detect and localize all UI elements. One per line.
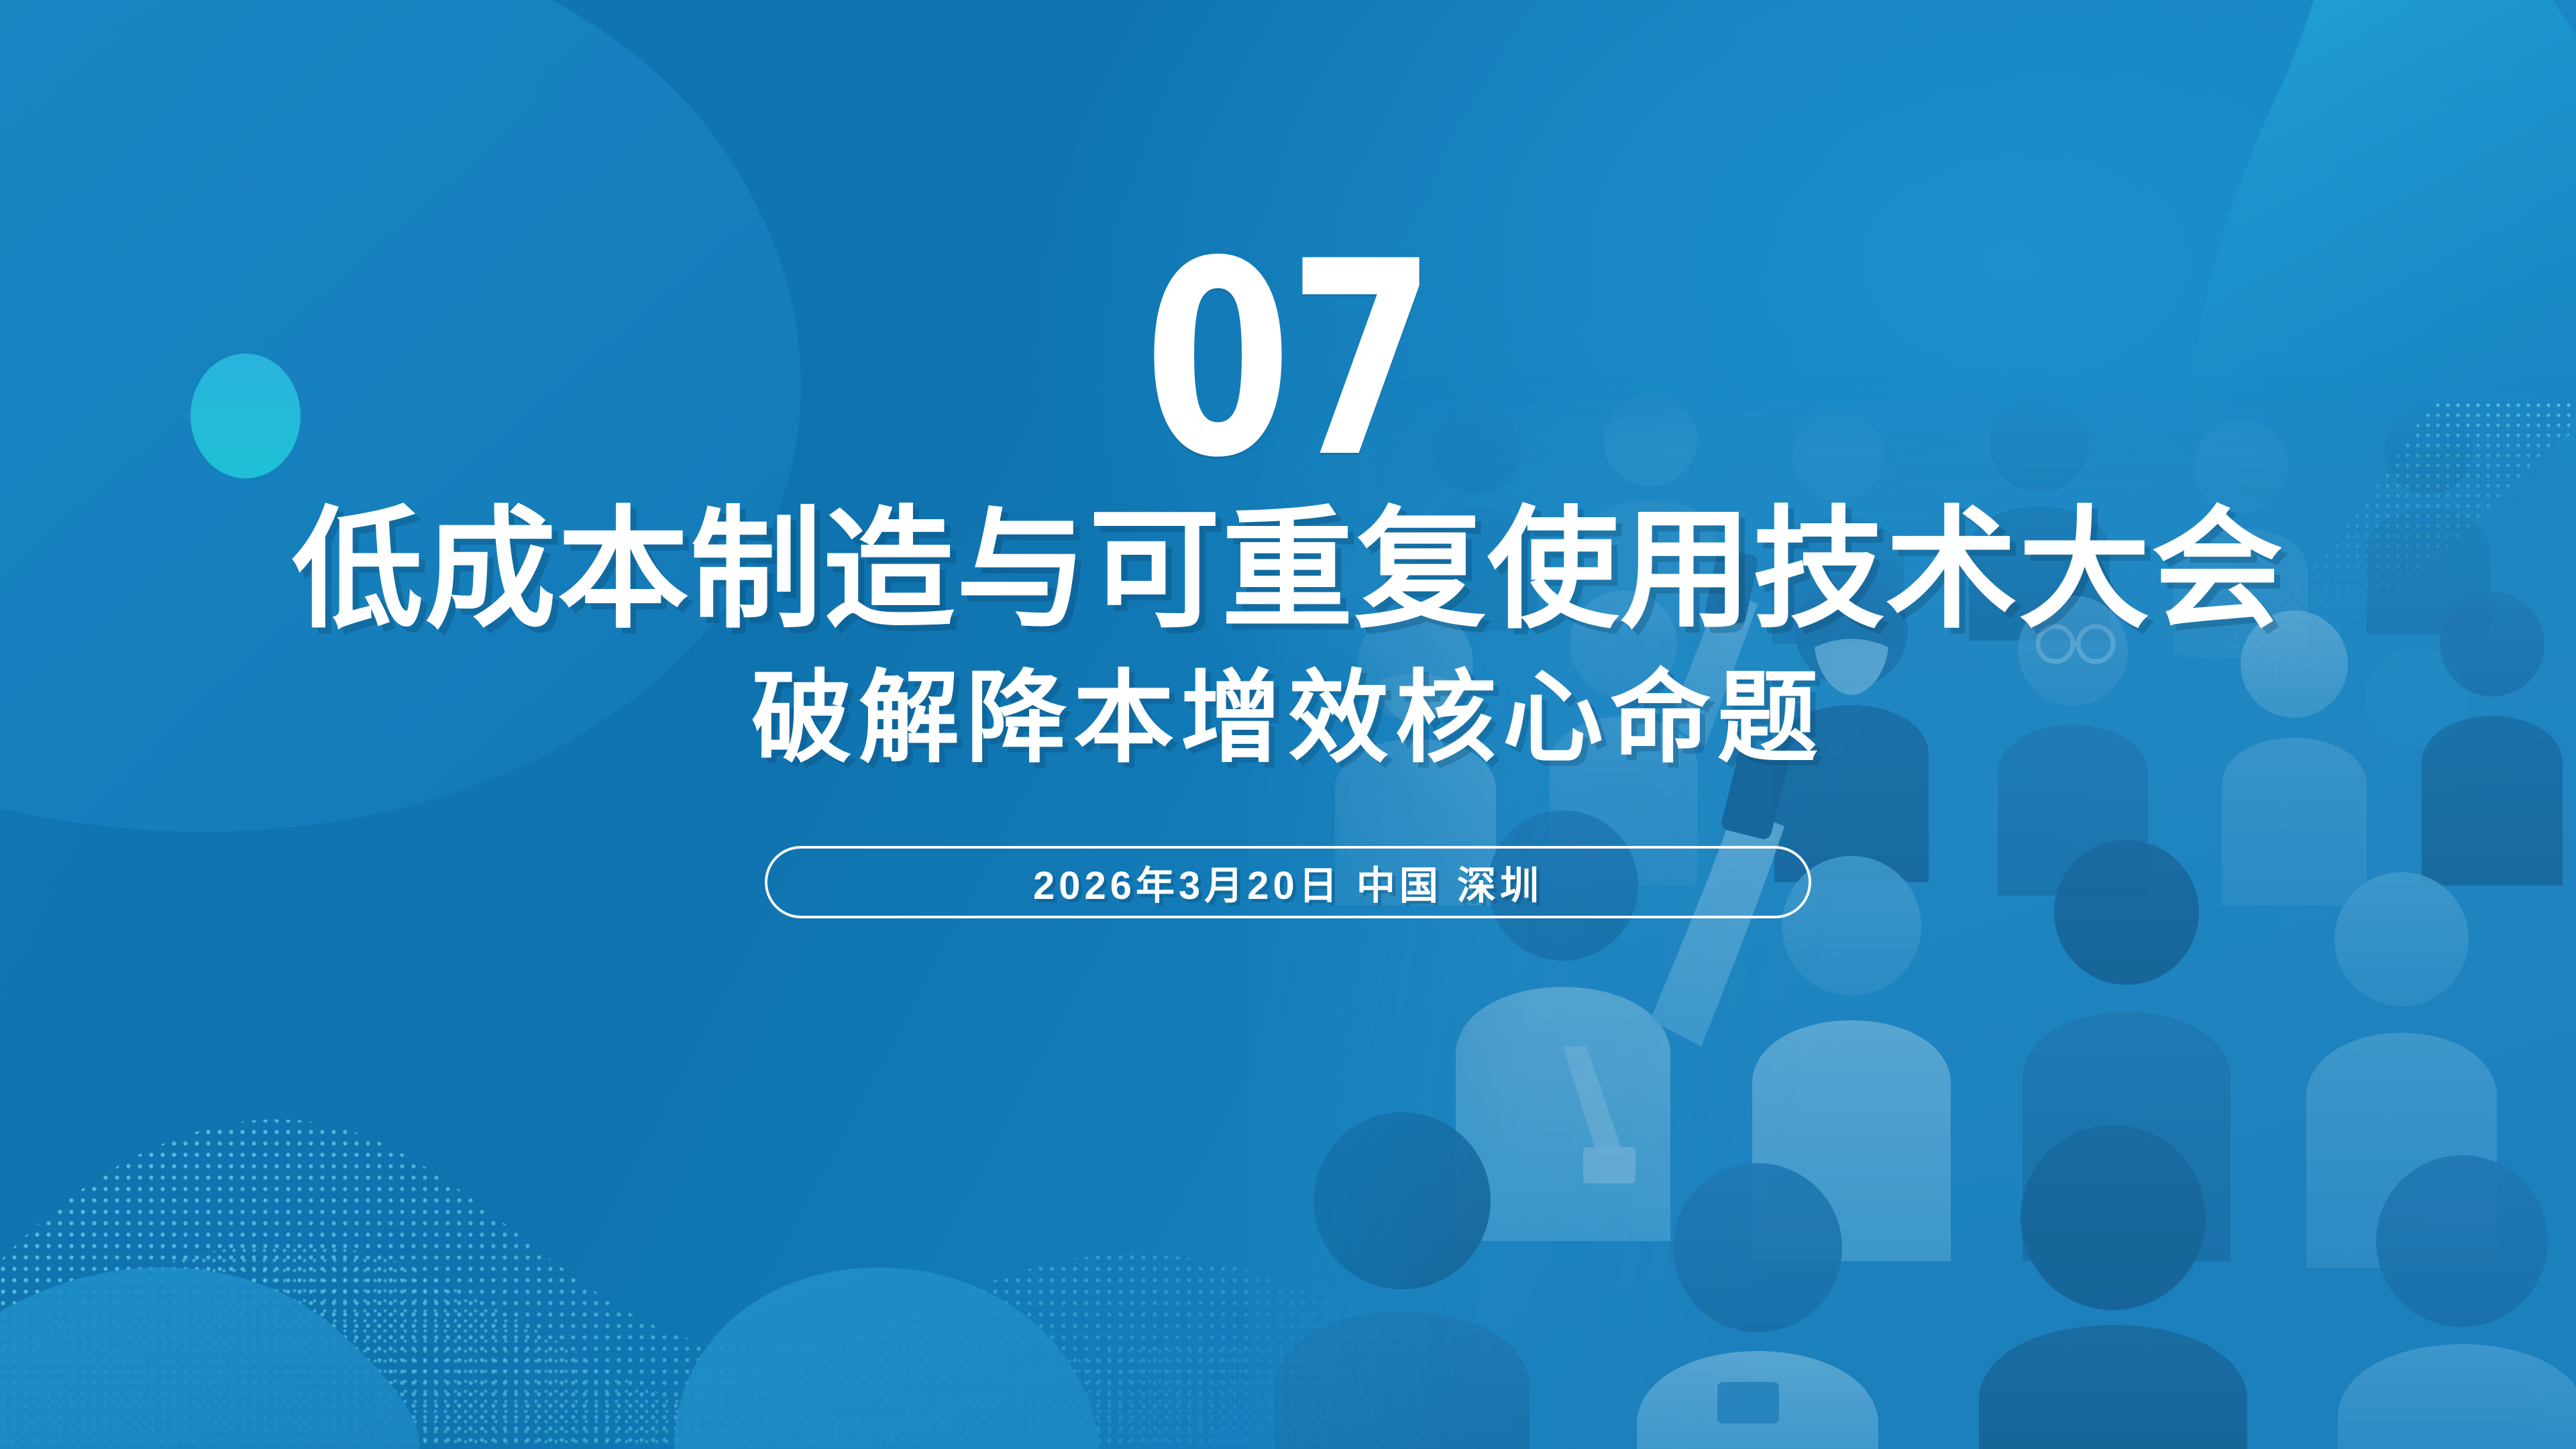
conference-banner: 07 低成本制造与可重复使用技术大会 破解降本增效核心命题 2026年3月20日…	[0, 0, 2576, 1449]
date-location-badge: 2026年3月20日 中国 深圳	[765, 846, 1811, 918]
banner-content: 07 低成本制造与可重复使用技术大会 破解降本增效核心命题 2026年3月20日…	[0, 0, 2576, 1449]
date-location-text: 2026年3月20日 中国 深圳	[1033, 854, 1543, 910]
page-subtitle: 破解降本增效核心命题	[751, 665, 1825, 771]
issue-number: 07	[1144, 236, 1432, 486]
page-title: 低成本制造与可重复使用技术大会	[292, 502, 2284, 639]
